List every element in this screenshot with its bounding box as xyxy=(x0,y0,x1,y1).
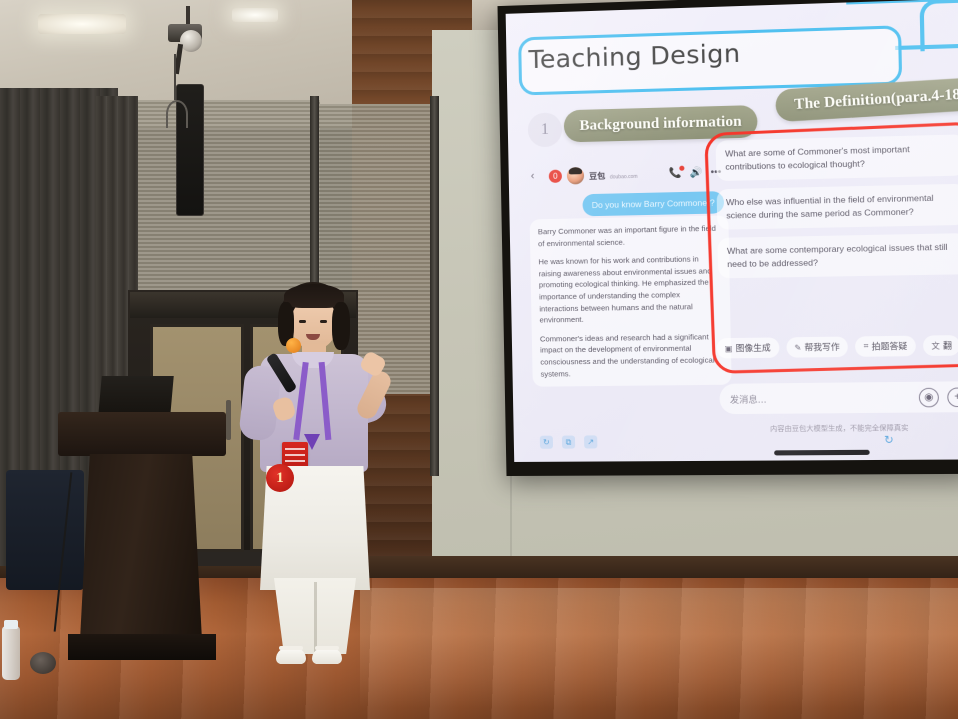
ceiling-light xyxy=(38,14,126,34)
quick-button-label: 翻 xyxy=(943,339,952,351)
chat-app-sub: doubao.com xyxy=(610,174,638,181)
camera-lens-icon xyxy=(180,30,202,52)
microphone-head xyxy=(286,338,301,353)
quick-button-photo-qa[interactable]: ⌗ 拍题答疑 xyxy=(855,336,916,357)
back-icon[interactable]: ‹ xyxy=(531,170,544,183)
quick-button-label: 帮我写作 xyxy=(804,341,840,354)
message-input-placeholder: 发消息... xyxy=(730,392,767,406)
message-input-bar[interactable]: 发消息... ◉ + xyxy=(719,381,958,414)
user-message-bubble: Do you know Barry Commoner? xyxy=(582,191,724,216)
chat-app-name: 豆包 xyxy=(589,172,605,181)
quick-action-bar: ▣ 图像生成 ✎ 帮我写作 ⌗ 拍题答疑 文 翻 xyxy=(716,335,958,358)
slide-title: Teaching Design xyxy=(528,39,740,75)
quick-button-translate[interactable]: 文 翻 xyxy=(923,335,958,356)
write-icon: ✎ xyxy=(794,343,801,352)
refresh-icon[interactable]: ↻ xyxy=(540,436,553,449)
regenerate-icon[interactable]: ↻ xyxy=(884,432,958,446)
suggestion-text: What are some of Commoner's most importa… xyxy=(725,142,957,174)
translate-icon: 文 xyxy=(931,340,940,351)
suggestion-text: What are some contemporary ecological is… xyxy=(727,240,958,271)
home-indicator xyxy=(774,450,870,456)
suggestion-list: What are some of Commoner's most importa… xyxy=(716,134,958,286)
speaker-icon[interactable]: 🔊 xyxy=(690,167,703,178)
suggestion-item[interactable]: Who else was influential in the field of… xyxy=(717,184,958,230)
hair-side xyxy=(332,302,350,350)
presenter: 1 xyxy=(236,282,406,682)
ai-message-bubble: Barry Commoner was an important figure i… xyxy=(530,215,732,386)
ai-paragraph: Barry Commoner was an important figure i… xyxy=(538,223,721,250)
input-icon-group: ◉ + xyxy=(919,387,958,407)
speaker-bracket xyxy=(166,100,188,128)
image-icon: ▣ xyxy=(725,344,733,353)
door-handle xyxy=(226,400,231,440)
suggestion-text: Who else was influential in the field of… xyxy=(726,191,958,222)
trouser-seam xyxy=(314,582,317,652)
chat-app-screenshot: ‹ 0 豆包 doubao.com 📞 🔊 ••• Do xyxy=(525,159,734,462)
number-badge: 1 xyxy=(266,464,294,492)
share-icon[interactable]: ↗ xyxy=(584,435,597,448)
floor-reflection xyxy=(360,588,958,708)
quick-button-image-generation[interactable]: ▣ 图像生成 xyxy=(716,337,779,358)
avatar[interactable] xyxy=(567,167,584,184)
quick-button-writing[interactable]: ✎ 帮我写作 xyxy=(786,337,848,358)
notification-badge: 0 xyxy=(549,169,562,182)
shoe-strap xyxy=(279,646,303,650)
quick-button-label: 拍题答疑 xyxy=(871,340,907,353)
quick-button-label: 图像生成 xyxy=(735,342,770,355)
ai-disclaimer: 内容由豆包大模型生成，不能完全保障真实 xyxy=(722,423,957,435)
plus-icon[interactable]: + xyxy=(947,387,958,407)
bottle-cap xyxy=(4,620,18,629)
photo-scene: 1 Teaching Design 1 Background informati… xyxy=(0,0,958,719)
step-number: 1 xyxy=(528,112,563,147)
water-bottle xyxy=(2,626,20,680)
podium-monitor xyxy=(98,376,173,416)
podium-base xyxy=(68,634,216,660)
suggestion-item[interactable]: What are some contemporary ecological is… xyxy=(717,233,958,278)
desk-object xyxy=(30,652,56,674)
shoe-strap xyxy=(315,646,339,650)
ai-paragraph: He was known for his work and contributi… xyxy=(538,253,722,326)
ai-paragraph: Commoner's ideas and research had a sign… xyxy=(540,331,723,380)
chair xyxy=(6,470,84,590)
podium-body xyxy=(80,454,202,640)
shoe-right xyxy=(312,648,342,664)
voice-icon[interactable]: ◉ xyxy=(919,387,939,407)
eye xyxy=(320,320,327,323)
suggestion-item[interactable]: What are some of Commoner's most importa… xyxy=(716,134,958,181)
eye xyxy=(299,320,306,323)
window-mullion xyxy=(430,96,439,476)
projected-slide: Teaching Design 1 Background information… xyxy=(506,0,958,462)
camera-icon: ⌗ xyxy=(864,341,869,351)
chat-title-group: 豆包 doubao.com xyxy=(589,165,638,184)
ceiling-light xyxy=(232,8,278,22)
projection-screen: Teaching Design 1 Background information… xyxy=(497,0,958,476)
copy-icon[interactable]: ⧉ xyxy=(562,436,575,449)
phone-icon[interactable]: 📞 xyxy=(669,167,682,178)
podium xyxy=(58,412,226,670)
podium-desktop xyxy=(58,412,226,456)
ai-action-group: ↻ ⧉ ↗ xyxy=(540,435,598,448)
chat-header: ‹ 0 豆包 doubao.com 📞 🔊 ••• xyxy=(531,159,722,190)
camera-mount xyxy=(186,6,190,26)
shoe-left xyxy=(276,648,306,664)
